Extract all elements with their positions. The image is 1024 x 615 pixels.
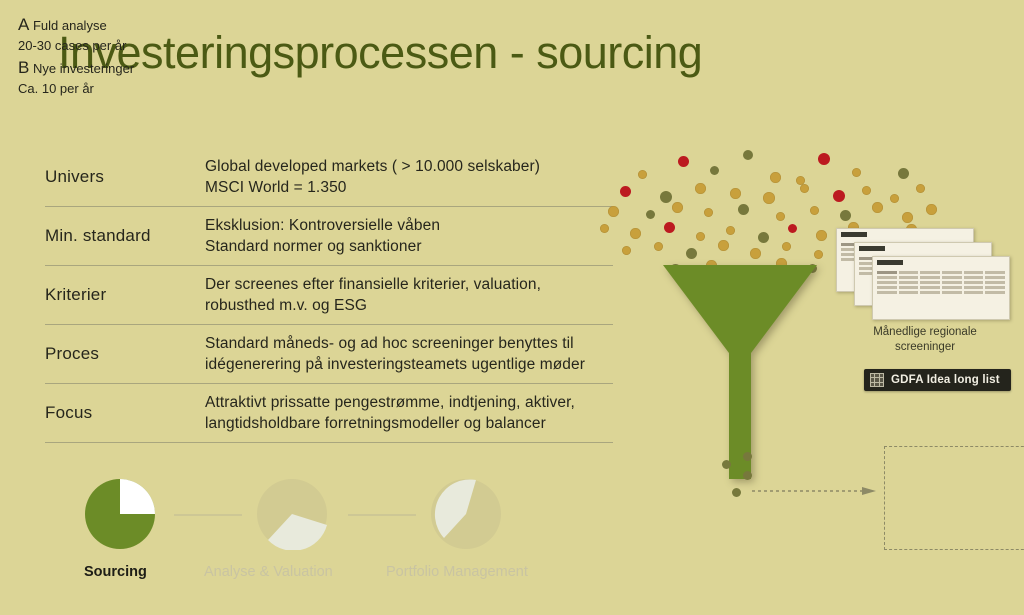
- document-sheet: [872, 256, 1010, 320]
- documents-caption-line2: screeninger: [855, 340, 995, 355]
- documents-caption-line1: Månedlige regionale: [855, 325, 995, 340]
- row-value-line1: Standard måneds- og ad hoc screeninger b…: [205, 333, 585, 354]
- gdfa-idea-long-list-badge[interactable]: GDFA Idea long list: [864, 369, 1011, 391]
- row-label: Min. standard: [45, 226, 205, 246]
- filtered-company-dot: [743, 452, 752, 461]
- dot-output: [600, 128, 870, 508]
- dashed-arrow-right-icon: [752, 485, 877, 497]
- row-value-line1: Der screenes efter finansielle kriterier…: [205, 274, 541, 295]
- company-dot: [872, 202, 883, 213]
- table-row: Proces Standard måneds- og ad hoc screen…: [45, 325, 613, 384]
- page-title: Investeringsprocessen - sourcing: [58, 27, 702, 79]
- stage-portfolio-management[interactable]: Portfolio Management: [430, 478, 502, 555]
- process-stage-indicators: Sourcing Analyse & Valuation Portfolio M…: [78, 478, 598, 590]
- row-value: Eksklusion: Kontroversielle våben Standa…: [205, 215, 440, 258]
- stage-connector: [174, 514, 242, 516]
- row-value-line2: langtidsholdbare forretningsmodeller og …: [205, 413, 575, 434]
- spec-table: Univers Global developed markets ( > 10.…: [45, 148, 613, 443]
- row-value: Der screenes efter finansielle kriterier…: [205, 274, 541, 317]
- outcome-key-a: A: [18, 15, 29, 34]
- stage-label: Analyse & Valuation: [204, 564, 333, 580]
- stage-label: Portfolio Management: [386, 564, 528, 580]
- outcomes-box: [884, 446, 1024, 550]
- stage-sourcing[interactable]: Sourcing: [84, 478, 156, 555]
- row-value-line1: Eksklusion: Kontroversielle våben: [205, 215, 440, 236]
- outcome-item-a: A Fuld analyse 20-30 cases per år: [18, 14, 126, 54]
- outcome-item-b: B Nye investeringer Ca. 10 per år: [18, 57, 134, 97]
- company-dot: [916, 184, 925, 193]
- company-dot: [926, 204, 937, 215]
- filtered-company-dot: [722, 460, 731, 469]
- outcome-title-a: Fuld analyse: [33, 18, 107, 33]
- row-value-line2: Standard normer og sanktioner: [205, 236, 440, 257]
- table-row: Min. standard Eksklusion: Kontroversiell…: [45, 207, 613, 266]
- stage-analyse-valuation[interactable]: Analyse & Valuation: [256, 478, 328, 555]
- spreadsheet-stack-icon: [836, 228, 1016, 320]
- outcome-detail-a: 20-30 cases per år: [18, 38, 126, 53]
- filtered-company-dot: [743, 471, 752, 480]
- table-row: Univers Global developed markets ( > 10.…: [45, 148, 613, 207]
- row-value-line2: idégenerering på investeringsteamets uge…: [205, 354, 585, 375]
- row-label: Proces: [45, 344, 205, 364]
- row-value-line2: robusthed m.v. og ESG: [205, 295, 541, 316]
- outcome-title-b: Nye investeringer: [33, 61, 134, 76]
- pie-quarter-icon: [84, 478, 156, 550]
- company-dot: [902, 212, 913, 223]
- outcome-detail-b: Ca. 10 per år: [18, 81, 94, 96]
- stage-connector: [348, 514, 416, 516]
- row-label: Focus: [45, 403, 205, 423]
- documents-caption: Månedlige regionale screeninger: [855, 325, 995, 355]
- row-value-line1: Global developed markets ( > 10.000 sels…: [205, 156, 540, 177]
- company-dot: [898, 168, 909, 179]
- row-value: Global developed markets ( > 10.000 sels…: [205, 156, 540, 199]
- table-row: Kriterier Der screenes efter finansielle…: [45, 266, 613, 325]
- filtered-company-dot: [732, 488, 741, 497]
- pie-quarter-icon: [256, 478, 328, 550]
- row-value: Attraktivt prissatte pengestrømme, indtj…: [205, 392, 575, 435]
- grid-icon: [870, 373, 884, 387]
- pie-quarter-icon: [430, 478, 502, 550]
- gdfa-badge-label: GDFA Idea long list: [891, 374, 1000, 386]
- outcome-key-b: B: [18, 58, 29, 77]
- company-dot: [890, 194, 899, 203]
- row-label: Kriterier: [45, 285, 205, 305]
- row-value-line1: Attraktivt prissatte pengestrømme, indtj…: [205, 392, 575, 413]
- row-value-line2: MSCI World = 1.350: [205, 177, 540, 198]
- row-value: Standard måneds- og ad hoc screeninger b…: [205, 333, 585, 376]
- funnel-diagram: [600, 128, 870, 508]
- table-row: Focus Attraktivt prissatte pengestrømme,…: [45, 384, 613, 443]
- stage-label: Sourcing: [84, 564, 147, 580]
- row-label: Univers: [45, 167, 205, 187]
